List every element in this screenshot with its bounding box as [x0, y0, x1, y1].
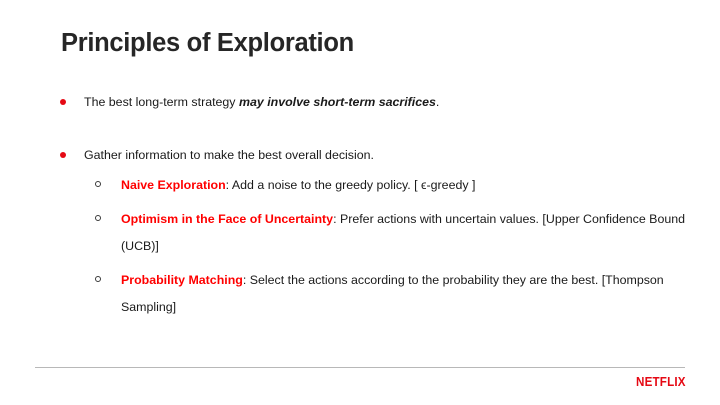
bullet-dot-icon	[60, 99, 66, 105]
page-title: Principles of Exploration	[61, 26, 354, 60]
sub-bullet-lead: Probability Matching	[121, 273, 243, 287]
netflix-logo: NETFLIX	[636, 375, 686, 389]
bullet-text-lead: The best long-term strategy	[84, 95, 239, 109]
bullet-text-emphasis: may involve short-term sacrifices	[239, 95, 436, 109]
bullet-item-primary: The best long-term strategy may involve …	[0, 92, 720, 112]
sub-bullet-text: : Add a noise to the greedy policy. [ ϵ-…	[226, 178, 476, 192]
slide-canvas: Principles of Exploration The best long-…	[0, 0, 720, 405]
bullet-spacer	[0, 112, 720, 145]
bullet-circle-icon	[95, 276, 101, 282]
bullet-item-primary: Gather information to make the best over…	[0, 145, 720, 165]
bullet-text: Gather information to make the best over…	[84, 148, 374, 162]
bullet-text-tail: .	[436, 95, 439, 109]
sub-bullet-lead: Naive Exploration	[121, 178, 226, 192]
sub-bullet-item-naive-exploration: Naive Exploration: Add a noise to the gr…	[0, 172, 720, 199]
sub-bullet-item-probability-matching: Probability Matching: Select the actions…	[0, 267, 720, 321]
bullet-circle-icon	[95, 181, 101, 187]
slide-body: The best long-term strategy may involve …	[0, 92, 720, 321]
bullet-dot-icon	[60, 152, 66, 158]
bullet-circle-icon	[95, 215, 101, 221]
footer-divider	[35, 367, 685, 368]
sub-bullet-item-optimism-face-uncertainty: Optimism in the Face of Uncertainty: Pre…	[0, 206, 720, 260]
sub-bullet-lead: Optimism in the Face of Uncertainty	[121, 212, 333, 226]
